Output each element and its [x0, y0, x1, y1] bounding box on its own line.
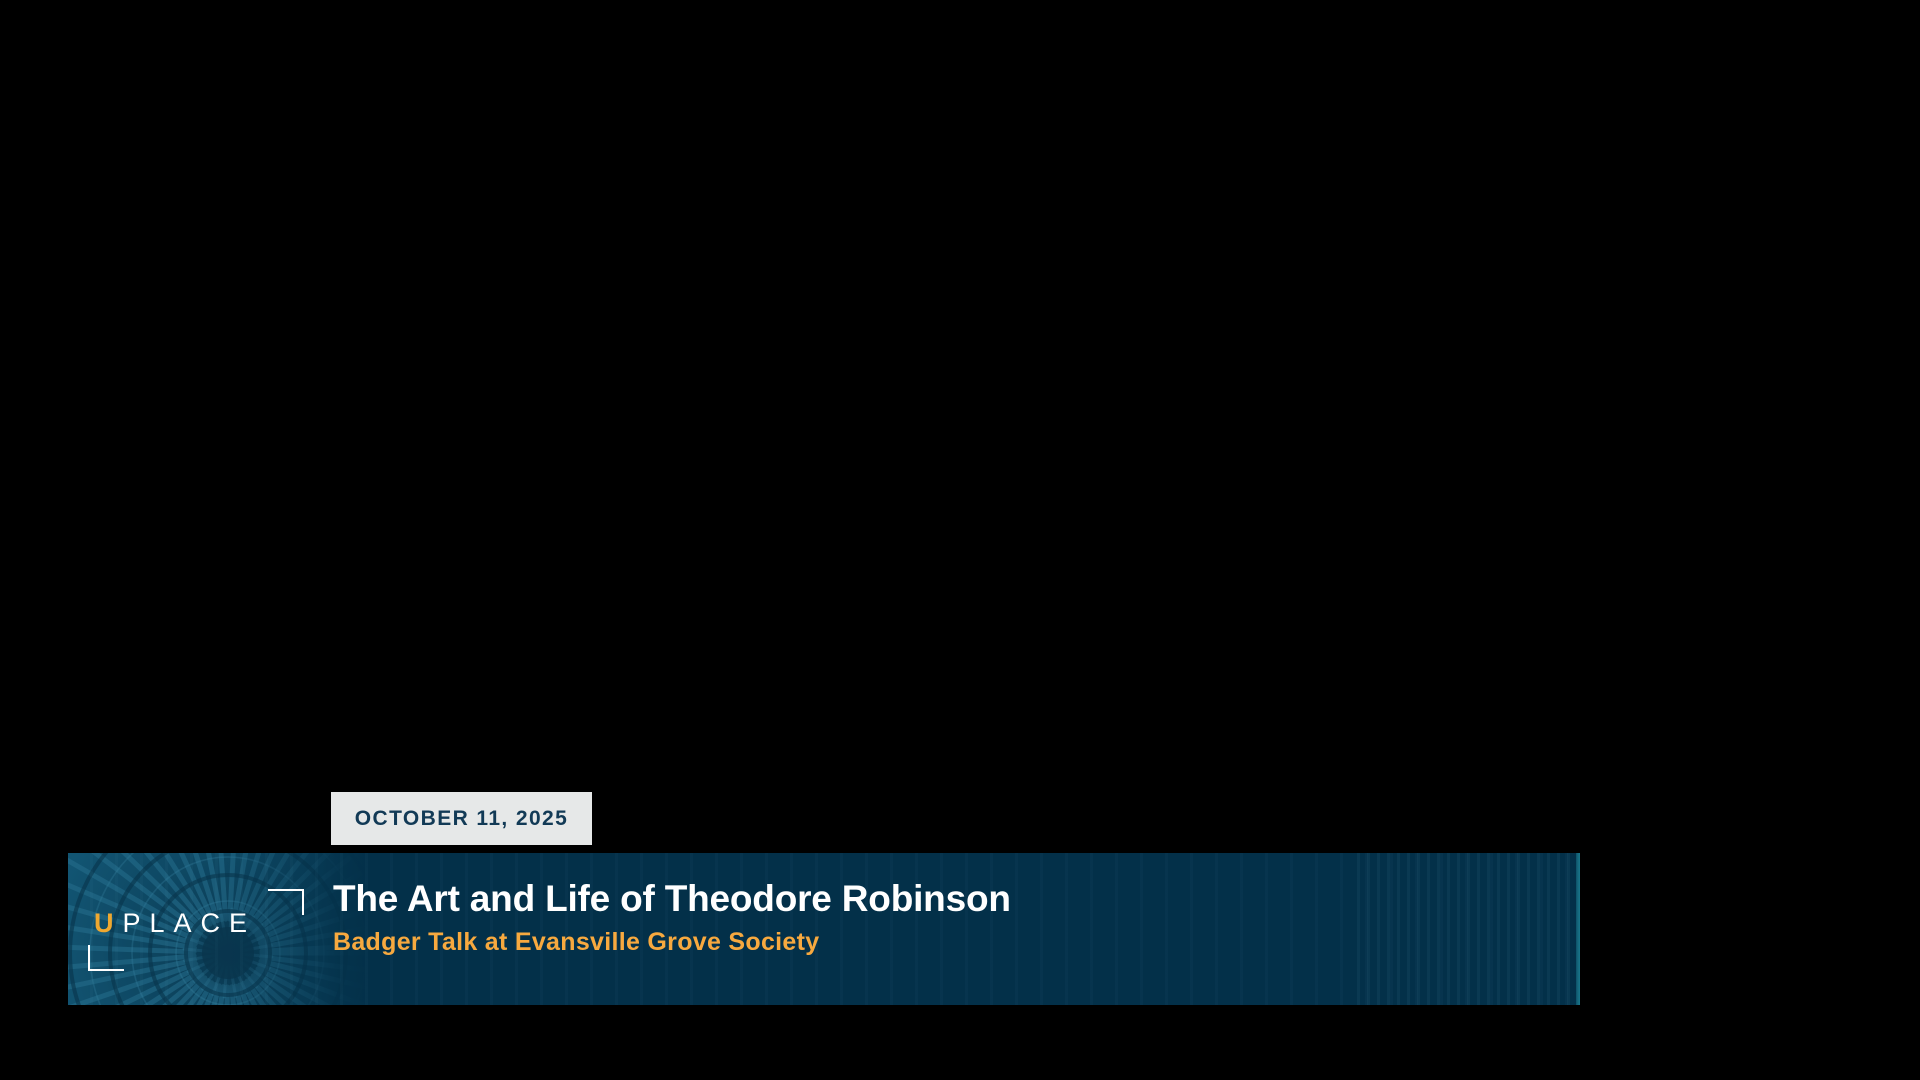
- event-date-badge: OCTOBER 11, 2025: [331, 792, 592, 845]
- banner-text-block: The Art and Life of Theodore Robinson Ba…: [333, 879, 1011, 956]
- event-title[interactable]: The Art and Life of Theodore Robinson: [333, 879, 1011, 919]
- uplace-wordmark: U PLACE: [94, 908, 256, 939]
- event-banner-card[interactable]: U PLACE The Art and Life of Theodore Rob…: [68, 853, 1580, 1005]
- event-date-label: OCTOBER 11, 2025: [355, 807, 568, 831]
- wordmark-accent-letter: U: [94, 908, 123, 939]
- event-subtitle: Badger Talk at Evansville Grove Society: [333, 929, 1011, 957]
- banner-right-accent-edge: [1576, 853, 1580, 1005]
- page-root: OCTOBER 11, 2025: [0, 0, 1920, 1080]
- wordmark-remainder: PLACE: [123, 908, 257, 939]
- logo-panel: U PLACE: [68, 853, 368, 1005]
- banner-stripe-texture-dense: [1350, 853, 1580, 1005]
